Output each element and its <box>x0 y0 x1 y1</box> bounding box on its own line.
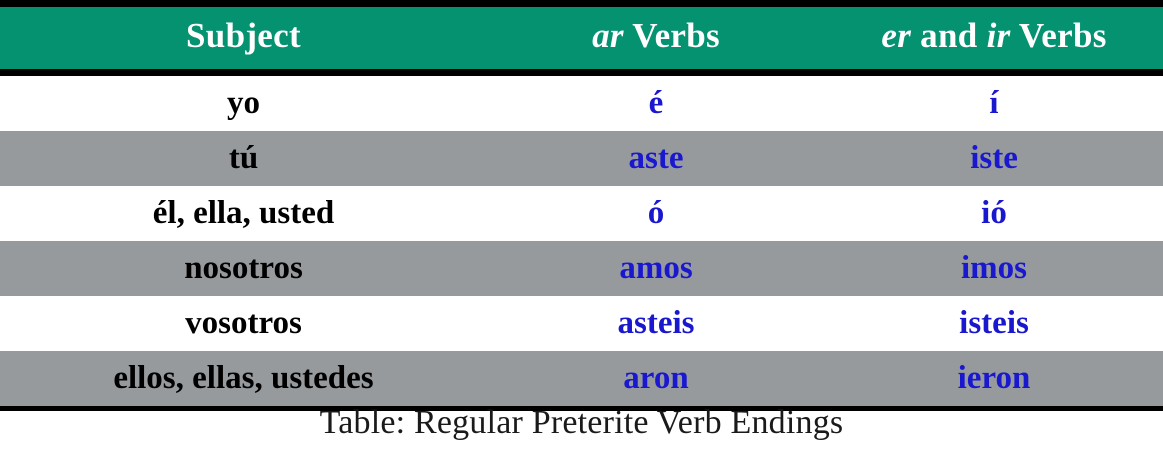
cell-subject: yo <box>0 76 487 131</box>
column-header-subject-label: Subject <box>186 16 301 55</box>
table-header: Subject ar Verbs er and ir Verbs <box>0 0 1163 76</box>
cell-subject: nosotros <box>0 241 487 296</box>
rule-mid-row <box>0 69 1163 76</box>
cell-subject: él, ella, usted <box>0 186 487 241</box>
cell-subject: ellos, ellas, ustedes <box>0 351 487 406</box>
cell-ar-ending: é <box>487 76 825 131</box>
table-row: él, ella, usted ó ió <box>0 186 1163 241</box>
header-row: Subject ar Verbs er and ir Verbs <box>0 7 1163 69</box>
table-row: tú aste iste <box>0 131 1163 186</box>
cell-ar-ending: aron <box>487 351 825 406</box>
cell-er-ir-ending: imos <box>825 241 1163 296</box>
cell-subject: tú <box>0 131 487 186</box>
column-header-er-ir-mid: and <box>911 16 986 55</box>
top-rule <box>0 0 1163 7</box>
cell-er-ir-ending: iste <box>825 131 1163 186</box>
rule-top-row <box>0 0 1163 7</box>
column-header-ar-verbs: ar Verbs <box>487 7 825 69</box>
cell-ar-ending: asteis <box>487 296 825 351</box>
table-row: yo é í <box>0 76 1163 131</box>
column-header-ar-italic: ar <box>592 16 624 55</box>
column-header-ar-rest: Verbs <box>624 16 720 55</box>
preterite-endings-table: Subject ar Verbs er and ir Verbs yo é í … <box>0 0 1163 411</box>
cell-er-ir-ending: ieron <box>825 351 1163 406</box>
table-row: nosotros amos imos <box>0 241 1163 296</box>
cell-er-ir-ending: ió <box>825 186 1163 241</box>
table-caption: Table: Regular Preterite Verb Endings <box>0 404 1163 442</box>
cell-ar-ending: ó <box>487 186 825 241</box>
cell-er-ir-ending: isteis <box>825 296 1163 351</box>
table-row: ellos, ellas, ustedes aron ieron <box>0 351 1163 406</box>
table-row: vosotros asteis isteis <box>0 296 1163 351</box>
column-header-er-ir-rest: Verbs <box>1011 16 1107 55</box>
table-body: yo é í tú aste iste él, ella, usted ó ió… <box>0 76 1163 411</box>
cell-ar-ending: aste <box>487 131 825 186</box>
column-header-subject: Subject <box>0 7 487 69</box>
cell-er-ir-ending: í <box>825 76 1163 131</box>
header-rule <box>0 69 1163 76</box>
column-header-er-ir-verbs: er and ir Verbs <box>825 7 1163 69</box>
cell-ar-ending: amos <box>487 241 825 296</box>
cell-subject: vosotros <box>0 296 487 351</box>
table-figure: Subject ar Verbs er and ir Verbs yo é í … <box>0 0 1163 471</box>
column-header-ir-italic: ir <box>987 16 1011 55</box>
column-header-er-italic: er <box>881 16 911 55</box>
